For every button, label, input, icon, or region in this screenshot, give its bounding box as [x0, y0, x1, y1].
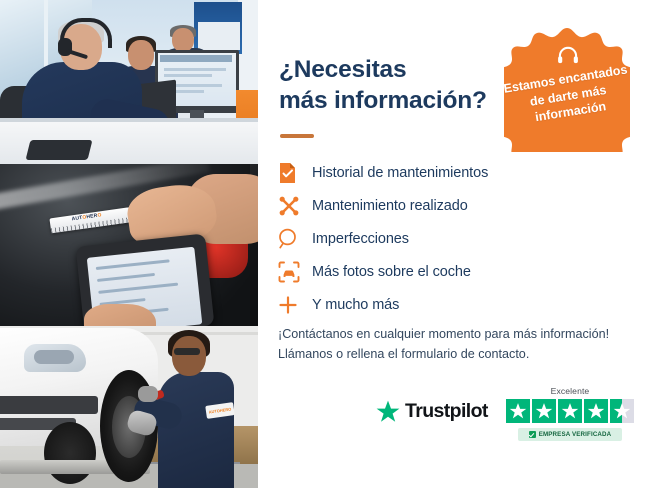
- trustpilot-star-icon: [376, 400, 400, 423]
- feature-item-mantenimiento[interactable]: Mantenimiento realizado: [278, 189, 628, 222]
- help-badge: Estamos encantados de darte más informac…: [504, 26, 630, 152]
- trustpilot-logo: Trustpilot: [376, 400, 488, 423]
- check-icon: [529, 431, 536, 438]
- feature-list: Historial de mantenimientos M: [278, 156, 628, 321]
- feature-item-mas[interactable]: Y mucho más: [278, 288, 628, 321]
- feature-item-imperfecciones[interactable]: Imperfecciones: [278, 222, 628, 255]
- feature-label: Y mucho más: [312, 297, 399, 313]
- wrench-screwdriver-icon: [278, 193, 312, 219]
- trustpilot-name: Trustpilot: [405, 400, 488, 423]
- feature-item-fotos[interactable]: Más fotos sobre el coche: [278, 255, 628, 288]
- star-1: [506, 399, 530, 423]
- feature-item-historial[interactable]: Historial de mantenimientos: [278, 156, 628, 189]
- star-2: [532, 399, 556, 423]
- call-center-agents-photo: [0, 0, 258, 164]
- document-check-icon: [278, 160, 312, 186]
- feature-label: Más fotos sobre el coche: [312, 264, 471, 280]
- help-badge-text: Estamos encantados de darte más informac…: [502, 62, 634, 131]
- page-title-line1: ¿Necesitas: [279, 54, 509, 85]
- verified-company-badge: EMPRESA VERIFICADA: [518, 428, 622, 441]
- magnifier-icon: [278, 226, 312, 252]
- mechanic-wheel-inspection-photo: AUTOHERO: [0, 326, 258, 488]
- promo-card: AUTOHERO: [0, 0, 650, 488]
- star-rating: [502, 399, 638, 423]
- feature-label: Historial de mantenimientos: [312, 165, 488, 181]
- content-panel: ¿Necesitas más información? Estamos enca…: [258, 0, 650, 488]
- rating-label: Excelente: [502, 386, 638, 396]
- feature-label: Imperfecciones: [312, 231, 409, 247]
- star-5-half: [610, 399, 634, 423]
- trustpilot-widget[interactable]: Trustpilot Excelente: [376, 386, 638, 448]
- plus-icon: [278, 292, 312, 318]
- verified-label: EMPRESA VERIFICADA: [539, 431, 612, 438]
- car-inspection-ruler-tablet-photo: AUTOHERO: [0, 164, 258, 326]
- page-title: ¿Necesitas más información?: [279, 54, 509, 116]
- page-title-line2: más información?: [279, 85, 509, 116]
- car-focus-icon: [278, 259, 312, 285]
- contact-line-2: Llámanos o rellena el formulario de cont…: [278, 344, 638, 364]
- star-4: [584, 399, 608, 423]
- trustpilot-rating: Excelente: [502, 386, 638, 441]
- feature-label: Mantenimiento realizado: [312, 198, 468, 214]
- contact-line-1: ¡Contáctanos en cualquier momento para m…: [278, 324, 638, 344]
- photo-column: AUTOHERO: [0, 0, 258, 488]
- contact-text: ¡Contáctanos en cualquier momento para m…: [278, 324, 638, 365]
- title-divider: [280, 134, 314, 138]
- star-3: [558, 399, 582, 423]
